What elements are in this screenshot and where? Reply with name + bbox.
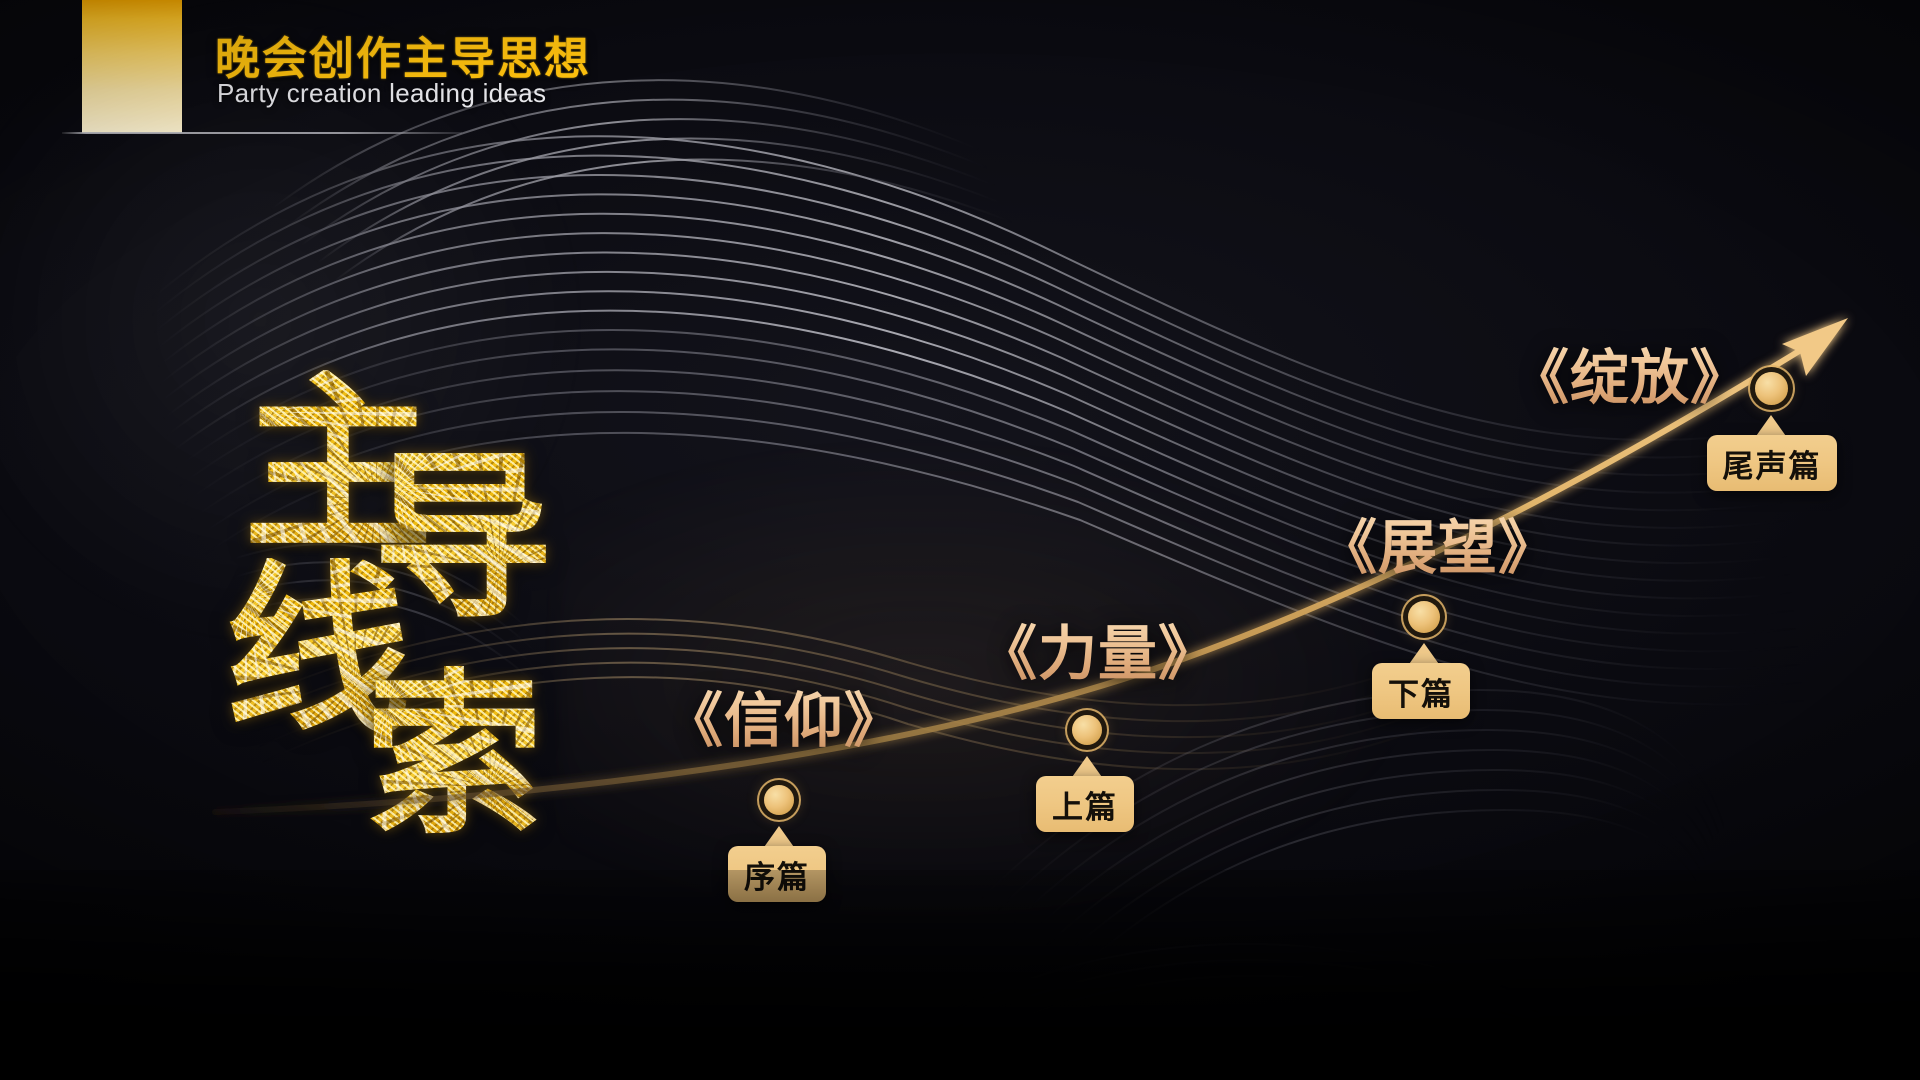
timeline-node-2-title: 《力量》 (978, 606, 1218, 691)
timeline-node-3-title: 《展望》 (1318, 500, 1558, 585)
timeline-node-2-marker-dot[interactable] (1072, 715, 1102, 745)
timeline-node-3-badge[interactable]: 下篇 (1372, 663, 1470, 719)
timeline-nodes: 《信仰》 序篇 《力量》 上篇 《展望》 下篇 《绽放》 尾声篇 (0, 0, 1920, 1080)
slide-canvas: 晚会创作主导思想 Party creation leading ideas 主 … (0, 0, 1920, 1080)
timeline-node-1-badge[interactable]: 序篇 (728, 846, 826, 902)
timeline-node-1-title: 《信仰》 (664, 673, 904, 758)
timeline-node-4-badge[interactable]: 尾声篇 (1707, 435, 1837, 491)
timeline-node-1-marker-dot[interactable] (764, 785, 794, 815)
timeline-node-3-marker-dot[interactable] (1408, 601, 1440, 633)
timeline-node-4-title: 《绽放》 (1510, 330, 1750, 415)
timeline-node-4-marker-dot[interactable] (1755, 372, 1788, 405)
timeline-node-2-badge[interactable]: 上篇 (1036, 776, 1134, 832)
